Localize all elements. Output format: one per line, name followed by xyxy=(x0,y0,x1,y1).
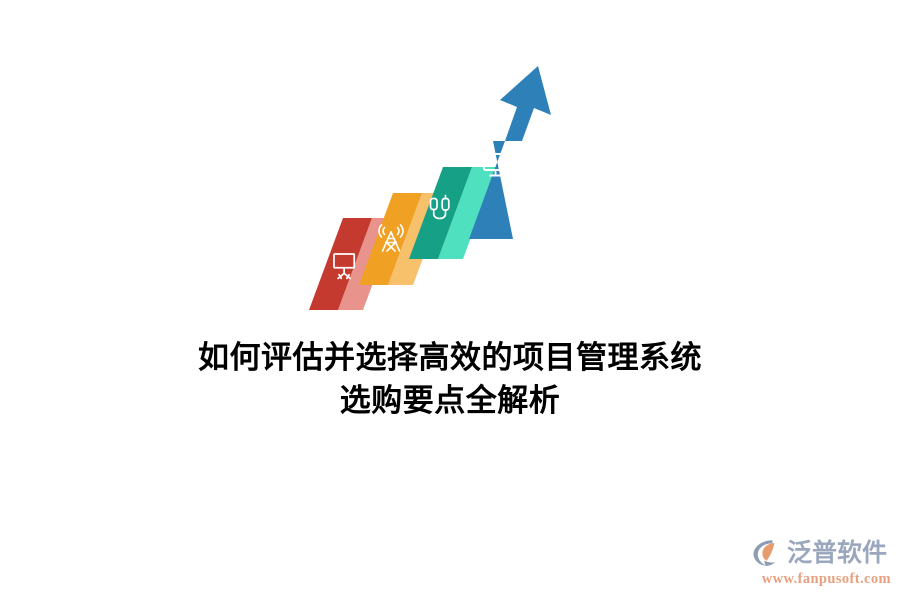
fanpu-swoosh-logo-icon xyxy=(752,538,784,568)
page-root: 如何评估并选择高效的项目管理系统 选购要点全解析 泛普软件 www.fanpus… xyxy=(0,0,900,600)
page-title: 如何评估并选择高效的项目管理系统 选购要点全解析 xyxy=(0,336,900,422)
brand-name: 泛普软件 xyxy=(787,538,887,568)
arrow-segment-blue xyxy=(469,66,551,239)
brand-url: www.fanpusoft.com xyxy=(752,570,892,588)
arrow-head-shaft xyxy=(469,66,551,239)
brand-row: 泛普软件 xyxy=(752,536,892,570)
brand-watermark: 泛普软件 www.fanpusoft.com xyxy=(752,536,892,592)
page-title-line-1: 如何评估并选择高效的项目管理系统 xyxy=(0,336,900,379)
ascending-arrow-infographic xyxy=(300,30,570,330)
page-title-line-2: 选购要点全解析 xyxy=(0,379,900,422)
